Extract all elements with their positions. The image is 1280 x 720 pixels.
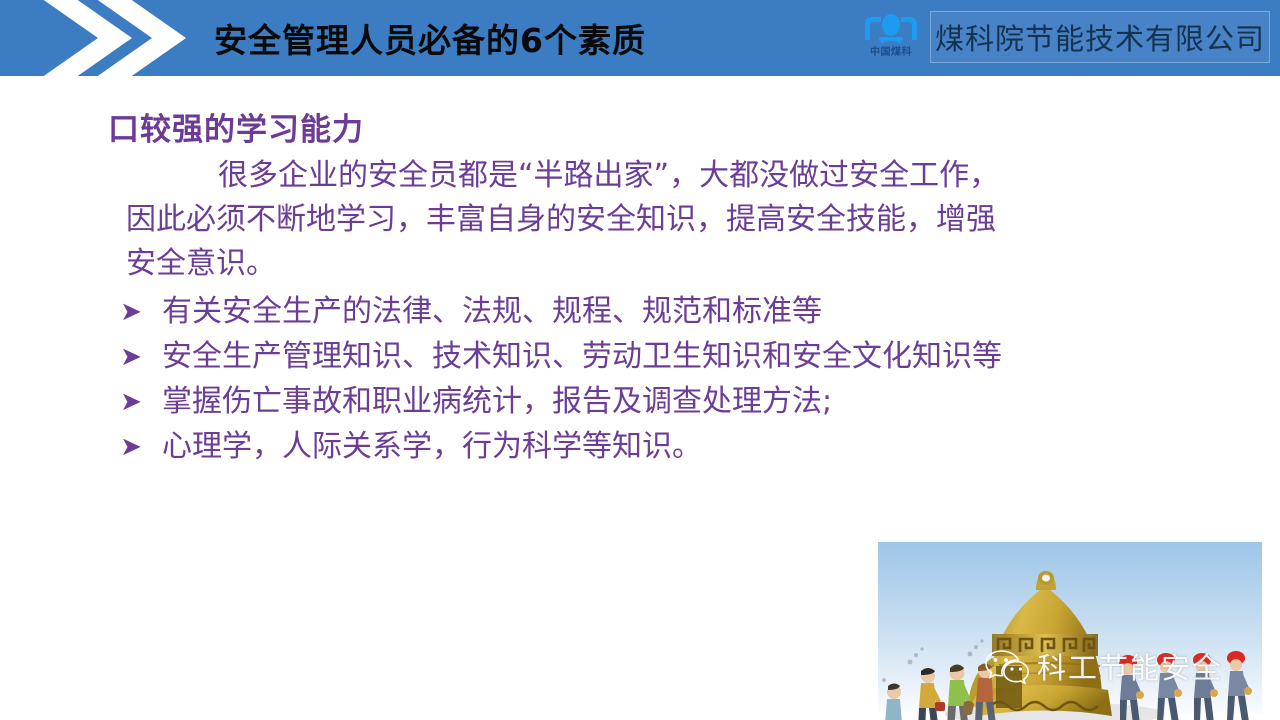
slide: 安全管理人员必备的6个素质 中国煤科 煤科院节能技术有限公司 口较强的学习能力 …: [0, 0, 1280, 720]
list-item: ➤ 掌握伤亡事故和职业病统计，报告及调查处理方法;: [100, 380, 1260, 425]
list-item: ➤ 心理学，人际关系学，行为科学等知识。: [100, 425, 1260, 470]
paragraph-line-1: 很多企业的安全员都是“半路出家”，大都没做过安全工作，: [108, 154, 1238, 198]
company-logo-caption: 中国煤科: [855, 47, 927, 59]
paragraph-line-2: 因此必须不断地学习，丰富自身的安全知识，提高安全技能，增强: [108, 198, 1238, 242]
bell-illustration: [870, 534, 1270, 720]
arrow-bullet-icon: ➤: [100, 290, 162, 334]
page-title: 安全管理人员必备的6个素质: [214, 14, 646, 62]
arrow-bullet-icon: ➤: [100, 380, 162, 424]
body-paragraph: 很多企业的安全员都是“半路出家”，大都没做过安全工作， 因此必须不断地学习，丰富…: [108, 154, 1238, 286]
paragraph-line-3: 安全意识。: [108, 242, 1238, 286]
slide-header: 安全管理人员必备的6个素质 中国煤科 煤科院节能技术有限公司: [0, 0, 1280, 76]
arrow-bullet-icon: ➤: [100, 335, 162, 379]
list-item-label: 心理学，人际关系学，行为科学等知识。: [162, 425, 702, 469]
list-item-label: 有关安全生产的法律、法规、规程、规范和标准等: [162, 290, 822, 334]
company-name: 煤科院节能技术有限公司: [935, 16, 1265, 58]
arrow-bullet-icon: ➤: [100, 425, 162, 469]
company-logo: 中国煤科: [855, 10, 927, 68]
company-name-box: 煤科院节能技术有限公司: [930, 11, 1270, 63]
list-item: ➤ 安全生产管理知识、技术知识、劳动卫生知识和安全文化知识等: [100, 335, 1260, 380]
list-item-label: 掌握伤亡事故和职业病统计，报告及调查处理方法;: [162, 380, 832, 424]
coal-science-emblem-icon: [855, 10, 927, 48]
bullet-list: ➤ 有关安全生产的法律、法规、规程、规范和标准等 ➤ 安全生产管理知识、技术知识…: [100, 290, 1260, 470]
list-item-label: 安全生产管理知识、技术知识、劳动卫生知识和安全文化知识等: [162, 335, 1002, 379]
chevron-double-right-icon: [36, 0, 186, 76]
list-item: ➤ 有关安全生产的法律、法规、规程、规范和标准等: [100, 290, 1260, 335]
section-heading: 口较强的学习能力: [108, 104, 364, 149]
slide-content: 口较强的学习能力 很多企业的安全员都是“半路出家”，大都没做过安全工作， 因此必…: [0, 76, 1280, 720]
